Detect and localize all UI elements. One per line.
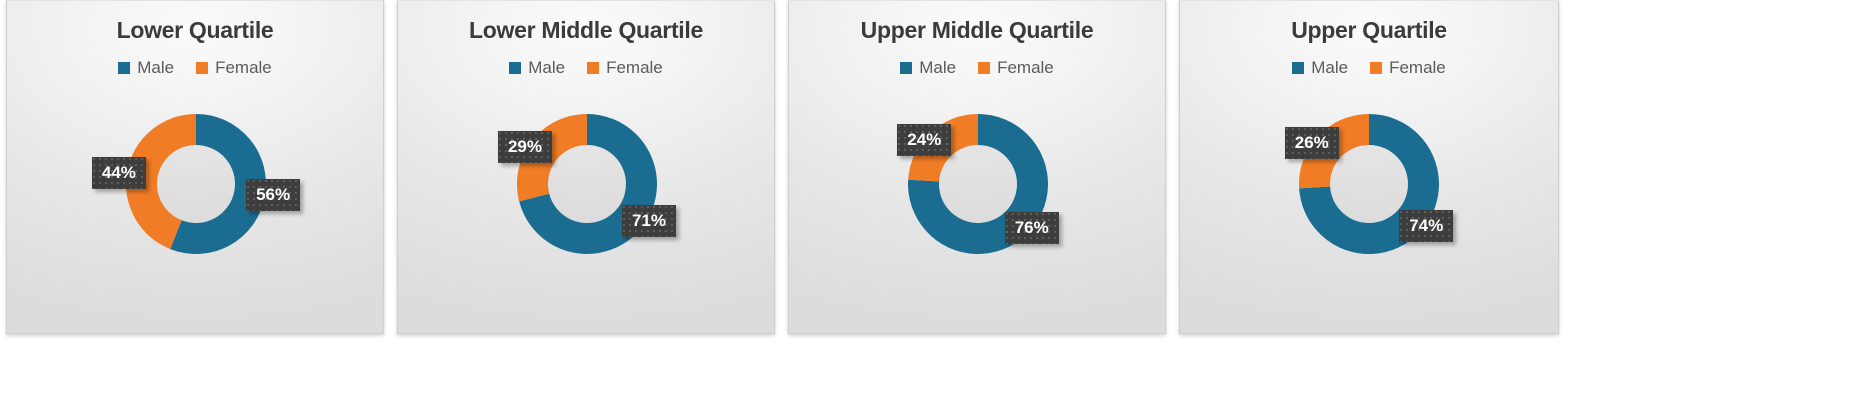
legend-label-male: Male — [137, 59, 174, 76]
legend-item-female[interactable]: Female — [587, 59, 663, 76]
chart-panel-lower-middle-quartile: Lower Middle Quartile Male Female 71% 29… — [397, 0, 775, 334]
legend-item-female[interactable]: Female — [1370, 59, 1446, 76]
legend-swatch-male-icon — [118, 62, 130, 74]
donut-svg — [487, 84, 687, 284]
data-label-male: 71% — [622, 205, 676, 237]
legend-swatch-female-icon — [587, 62, 599, 74]
quartile-donut-dashboard: Lower Quartile Male Female 56% 44% Lower… — [0, 0, 1873, 408]
legend-label-male: Male — [1311, 59, 1348, 76]
legend-item-female[interactable]: Female — [978, 59, 1054, 76]
data-label-male: 76% — [1005, 212, 1059, 244]
legend-label-female: Female — [606, 59, 663, 76]
donut-chart-lower-quartile[interactable]: 56% 44% — [7, 84, 384, 299]
legend-item-female[interactable]: Female — [196, 59, 272, 76]
page-title: Lower Middle Quartile — [398, 1, 774, 42]
legend-item-male[interactable]: Male — [900, 59, 956, 76]
donut-svg — [878, 84, 1078, 284]
data-label-male: 74% — [1399, 210, 1453, 242]
data-label-female: 29% — [498, 131, 552, 163]
legend-swatch-male-icon — [509, 62, 521, 74]
donut-chart-upper-middle-quartile[interactable]: 76% 24% — [789, 84, 1166, 299]
donut-svg — [1269, 84, 1469, 284]
chart-legend: Male Female — [1180, 59, 1558, 76]
legend-swatch-female-icon — [196, 62, 208, 74]
chart-legend: Male Female — [398, 59, 774, 76]
legend-label-female: Female — [1389, 59, 1446, 76]
donut-hole — [548, 145, 626, 223]
chart-legend: Male Female — [789, 59, 1165, 76]
legend-label-male: Male — [919, 59, 956, 76]
chart-panel-lower-quartile: Lower Quartile Male Female 56% 44% — [6, 0, 384, 334]
chart-panel-upper-quartile: Upper Quartile Male Female 74% 26% — [1179, 0, 1559, 334]
data-label-female: 44% — [92, 157, 146, 189]
page-title: Upper Middle Quartile — [789, 1, 1165, 42]
legend-swatch-male-icon — [1292, 62, 1304, 74]
donut-hole — [157, 145, 235, 223]
legend-item-male[interactable]: Male — [1292, 59, 1348, 76]
donut-chart-upper-quartile[interactable]: 74% 26% — [1180, 84, 1558, 299]
legend-item-male[interactable]: Male — [118, 59, 174, 76]
legend-swatch-female-icon — [1370, 62, 1382, 74]
legend-label-female: Female — [997, 59, 1054, 76]
legend-label-female: Female — [215, 59, 272, 76]
data-label-female: 24% — [897, 124, 951, 156]
donut-hole — [1330, 145, 1408, 223]
legend-swatch-female-icon — [978, 62, 990, 74]
legend-swatch-male-icon — [900, 62, 912, 74]
legend-label-male: Male — [528, 59, 565, 76]
chart-panel-upper-middle-quartile: Upper Middle Quartile Male Female 76% 24… — [788, 0, 1166, 334]
chart-legend: Male Female — [7, 59, 383, 76]
donut-chart-lower-middle-quartile[interactable]: 71% 29% — [398, 84, 775, 299]
data-label-male: 56% — [246, 179, 300, 211]
page-title: Upper Quartile — [1180, 1, 1558, 42]
data-label-female: 26% — [1285, 127, 1339, 159]
page-title: Lower Quartile — [7, 1, 383, 42]
legend-item-male[interactable]: Male — [509, 59, 565, 76]
